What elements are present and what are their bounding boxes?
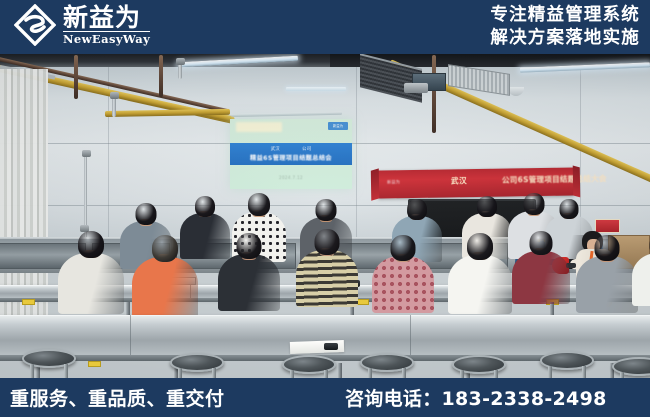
footer-phone-label: 咨询电话： <box>345 388 442 410</box>
audience-head <box>316 199 337 221</box>
audience-member <box>632 233 650 310</box>
audience-head <box>152 235 178 262</box>
brand-name-en: NewEasyWay <box>63 31 150 46</box>
header-slogan: 专注精益管理系统 解决方案落地实施 <box>490 4 640 50</box>
round-metal-stool <box>170 353 224 378</box>
stool-leg <box>178 368 182 378</box>
header-bar: 新益为 NewEasyWay 专注精益管理系统 解决方案落地实施 <box>0 0 650 54</box>
stool-leg <box>548 366 552 378</box>
stool-leg <box>290 370 294 378</box>
stool-leg <box>324 370 328 378</box>
audience-head <box>595 235 620 261</box>
stool-leg <box>494 370 498 378</box>
banner-city: 武汉 <box>451 175 467 186</box>
audience-head <box>248 193 270 216</box>
slogan-line-1: 专注精益管理系统 <box>490 4 640 27</box>
audience-member <box>296 229 358 312</box>
stool-leg <box>212 368 216 378</box>
audience-head <box>407 199 427 220</box>
audience-torso <box>218 254 280 311</box>
round-metal-stool <box>282 355 336 378</box>
audience-head <box>195 196 215 217</box>
slide-title: 精益6S管理项目结题总结会 <box>250 153 332 162</box>
banner-title: 公司6S管理项目结题总结大会 <box>502 173 607 186</box>
audience-member <box>132 235 198 323</box>
audience-torso <box>58 253 124 314</box>
round-metal-stool <box>452 355 506 378</box>
projected-slide-screen: 新益为 武汉 公司 精益6S管理项目结题总结会 2024.7.12 <box>230 119 352 189</box>
brand-logo[interactable]: 新益为 NewEasyWay <box>14 4 150 46</box>
audience-head <box>524 193 545 215</box>
stool-leg <box>30 364 34 378</box>
audience-member <box>512 231 570 308</box>
vertical-pipe <box>432 55 436 133</box>
table-seam <box>410 315 411 355</box>
audience-member <box>372 235 434 318</box>
round-metal-stool <box>540 351 594 378</box>
table-seam <box>130 315 131 355</box>
banner-logo: 新益为 <box>387 179 400 185</box>
slide-title-band: 武汉 公司 精益6S管理项目结题总结会 <box>230 143 352 165</box>
audience-head <box>78 231 104 258</box>
ceiling-projector <box>404 83 428 93</box>
wall-panel-seam <box>356 67 357 242</box>
slide-org-left: 武汉 <box>271 146 280 152</box>
stool-leg <box>64 364 68 378</box>
brand-name-cn: 新益为 <box>63 5 150 30</box>
meeting-photograph: 新益为 武汉 公司 精益6S管理项目结题总结会 2024.7.12 新益为 武汉… <box>0 53 650 378</box>
audience-torso <box>372 256 434 313</box>
table-asset-tag <box>22 299 35 305</box>
audience-head <box>237 233 262 259</box>
audience-head <box>136 203 157 225</box>
footer-bar: 重服务、重品质、重交付 咨询电话：183-2338-2498 <box>0 378 650 417</box>
pipe-valve <box>110 92 119 99</box>
mobile-phone-on-table <box>324 343 338 350</box>
pipe-valve <box>176 58 185 65</box>
stool-leg <box>460 370 464 378</box>
slide-logo: 新益为 <box>328 122 348 130</box>
table-leg <box>338 363 342 378</box>
slogan-line-2: 解决方案落地实施 <box>490 27 640 50</box>
slide-org-right: 公司 <box>302 146 311 152</box>
stool-leg <box>368 368 372 378</box>
audience-head <box>530 231 553 255</box>
audience-torso <box>132 257 198 318</box>
footer-value-proposition: 重服务、重品质、重交付 <box>10 384 225 411</box>
audience-member <box>576 235 638 318</box>
audience-member <box>218 233 280 316</box>
audience-member <box>448 233 512 319</box>
round-metal-stool <box>360 353 414 378</box>
audience-member <box>58 231 124 319</box>
footer-phone-number: 183-2338-2498 <box>442 388 607 410</box>
slide-org-row: 武汉 公司 <box>271 146 312 152</box>
audience-torso <box>448 255 512 314</box>
round-metal-stool <box>22 349 76 378</box>
audience-head <box>560 199 579 219</box>
audience-torso <box>576 256 638 313</box>
vertical-pipe <box>159 55 163 97</box>
slide-highlight-block <box>236 122 282 132</box>
audience-head <box>391 235 416 261</box>
audience-head <box>315 229 340 255</box>
neweasyway-diamond-logo-icon <box>14 4 56 46</box>
wall-switch-box <box>82 150 91 157</box>
table-asset-tag <box>88 361 101 367</box>
promo-banner-image: 新益为 NewEasyWay 专注精益管理系统 解决方案落地实施 <box>0 0 650 417</box>
vertical-pipe <box>74 55 78 99</box>
footer-contact: 咨询电话：183-2338-2498 <box>345 384 607 411</box>
audience-torso <box>296 250 358 307</box>
audience-head <box>467 233 493 260</box>
audience-torso <box>512 251 570 304</box>
audience-torso <box>632 253 650 306</box>
stool-leg <box>402 368 406 378</box>
audience-head <box>477 196 497 217</box>
round-metal-stool <box>612 357 650 378</box>
brand-wordmark: 新益为 NewEasyWay <box>63 5 150 46</box>
stool-leg <box>582 366 586 378</box>
stool-seat <box>612 357 650 376</box>
slide-date: 2024.7.12 <box>230 175 352 180</box>
fluorescent-tube-light <box>286 87 346 91</box>
